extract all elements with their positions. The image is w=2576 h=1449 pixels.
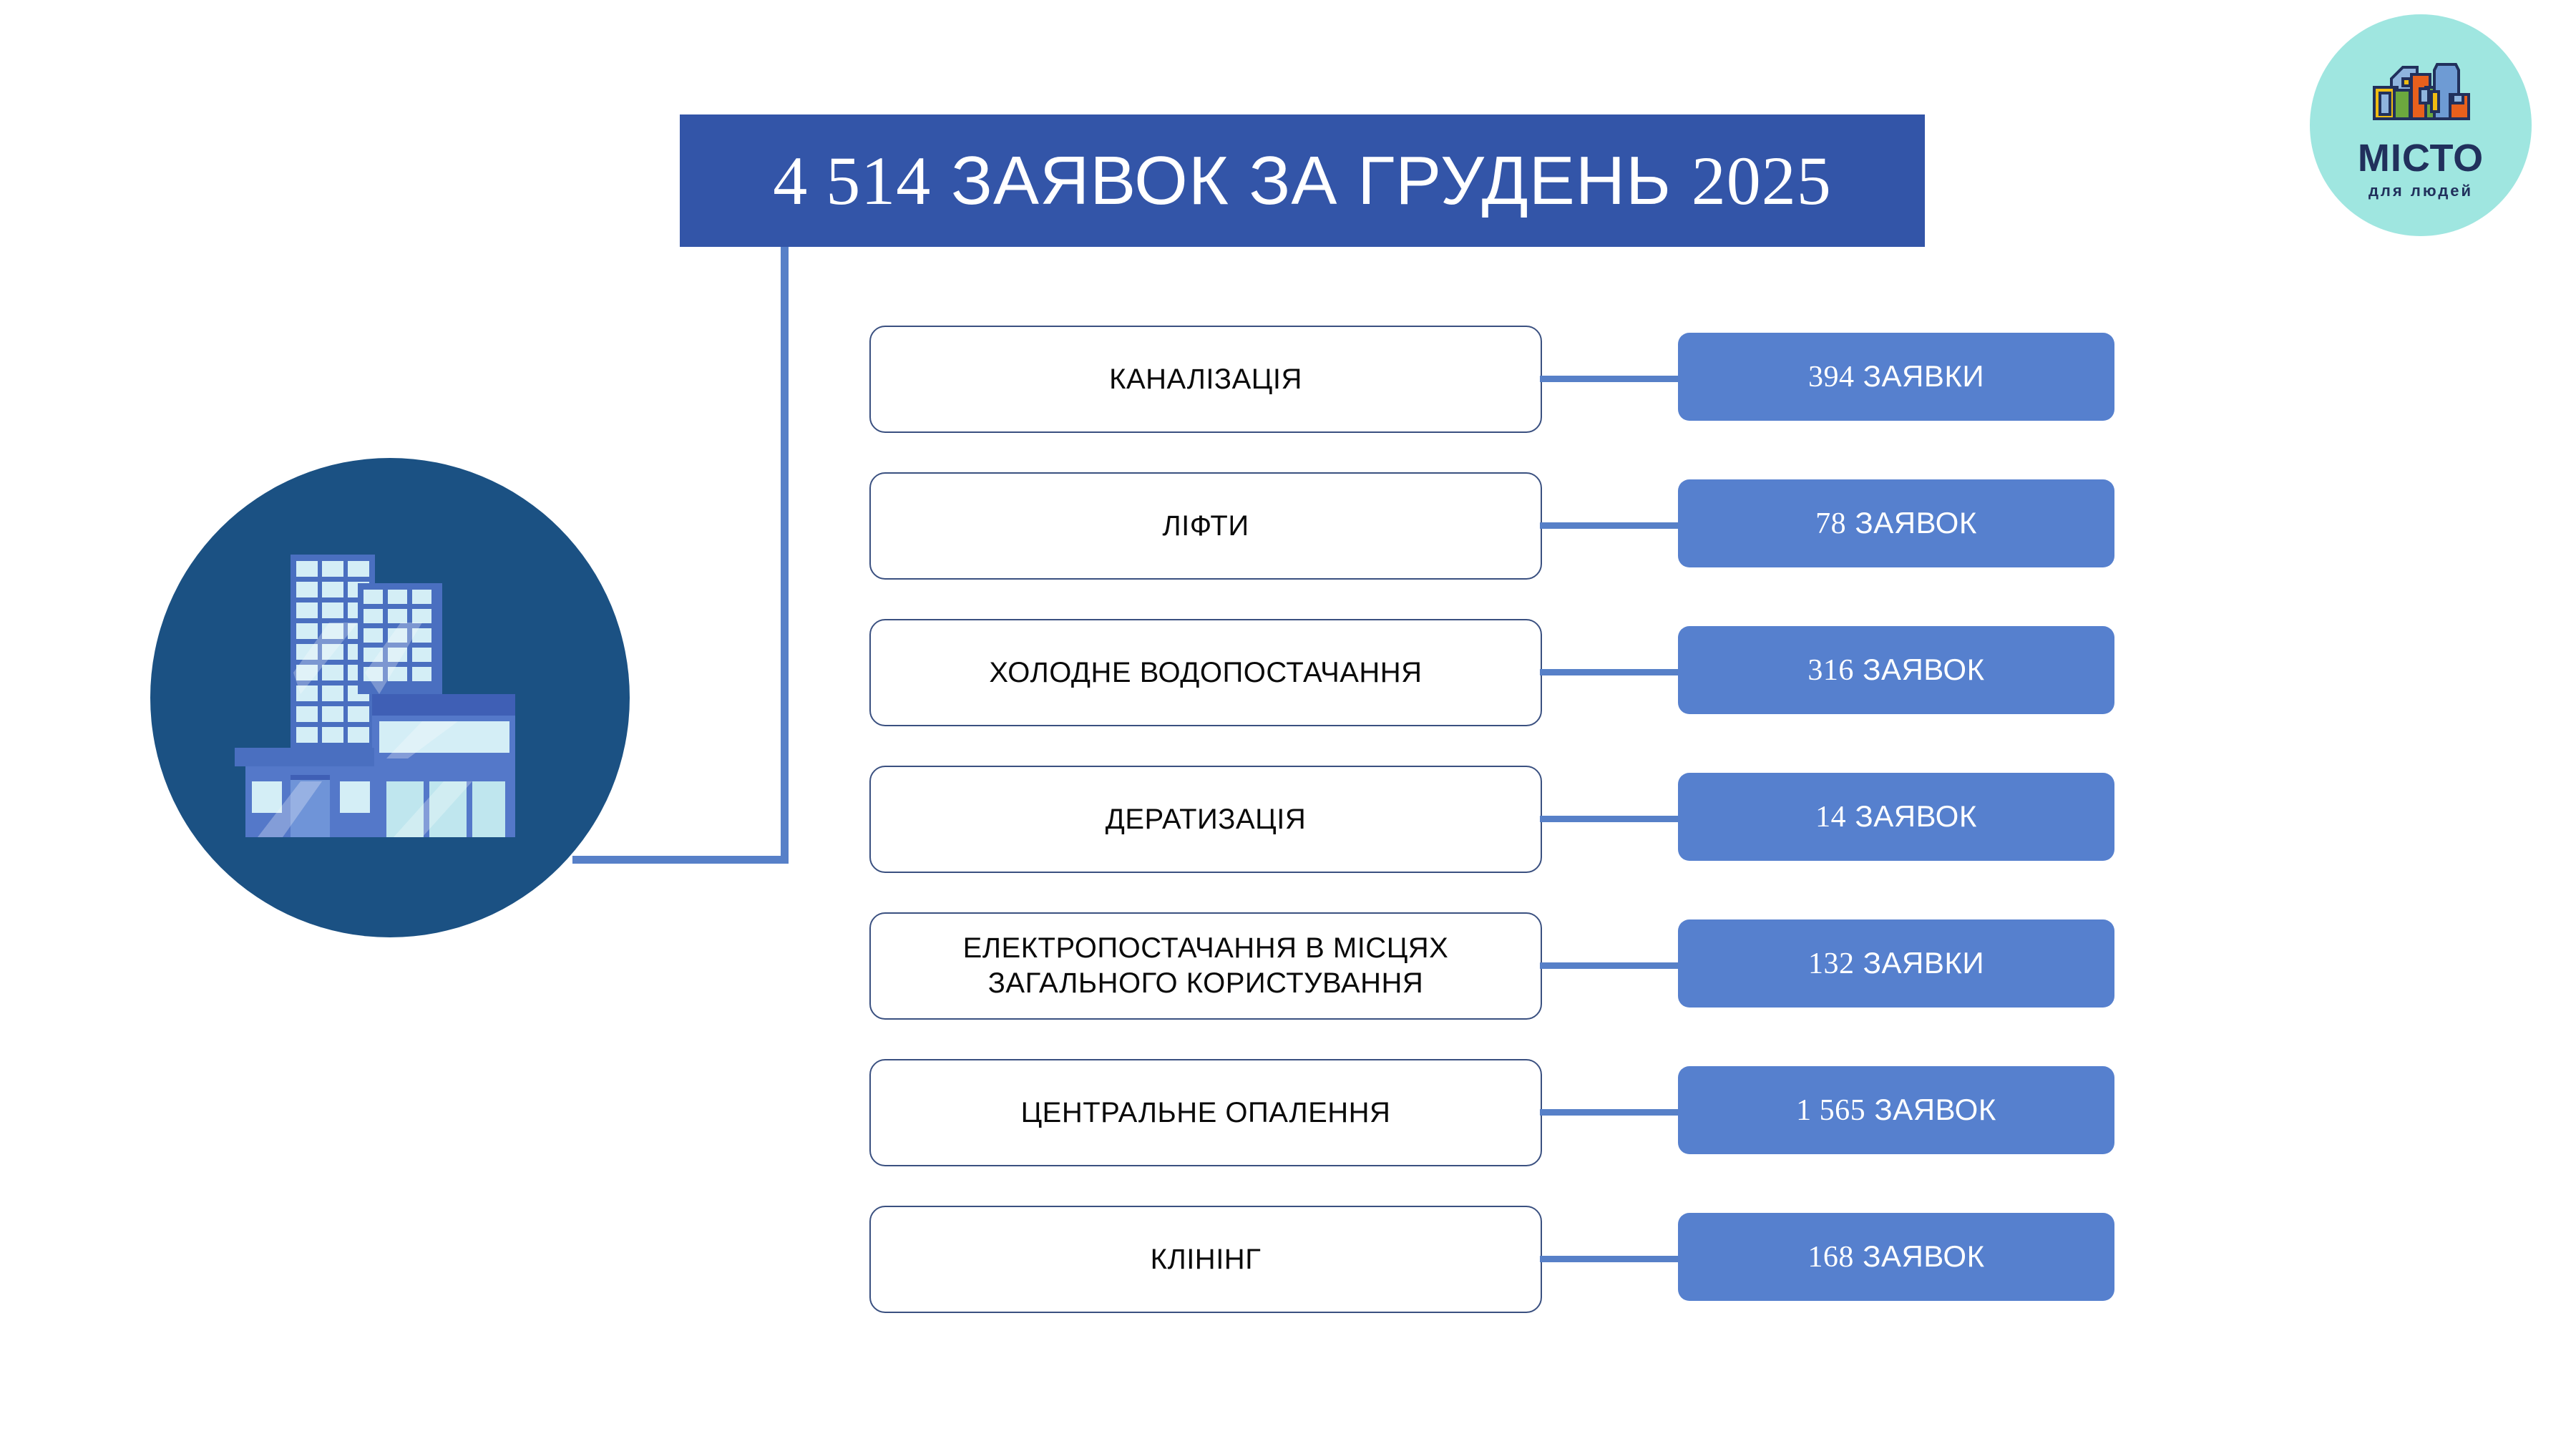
category-label: ЛІФТИ xyxy=(1149,509,1262,544)
category-box[interactable]: ХОЛОДНЕ ВОДОПОСТАЧАННЯ xyxy=(869,619,1542,726)
value-number: 78 xyxy=(1815,507,1846,540)
apartment-building-icon xyxy=(150,458,630,937)
value-label: 1 565 ЗАЯВОК xyxy=(1796,1093,1996,1128)
row-connector xyxy=(1540,1109,1680,1116)
category-box[interactable]: ЦЕНТРАЛЬНЕ ОПАЛЕННЯ xyxy=(869,1059,1542,1166)
category-line-1: ДЕРАТИЗАЦІЯ xyxy=(1106,804,1306,835)
title-connector-vertical xyxy=(781,247,789,864)
title-period-text: ЗАЯВОК ЗА ГРУДЕНЬ xyxy=(951,142,1672,219)
value-box[interactable]: 168 ЗАЯВОК xyxy=(1678,1213,2114,1301)
value-unit: ЗАЯВОК xyxy=(1863,653,1984,686)
category-line-1: ХОЛОДНЕ ВОДОПОСТАЧАННЯ xyxy=(989,657,1422,688)
value-number: 394 xyxy=(1808,361,1855,394)
value-label: 14 ЗАЯВОК xyxy=(1815,799,1977,834)
value-unit: ЗАЯВОК xyxy=(1855,799,1976,833)
value-box[interactable]: 14 ЗАЯВОК xyxy=(1678,773,2114,861)
value-number: 1 565 xyxy=(1796,1094,1865,1127)
value-unit: ЗАЯВОК xyxy=(1863,1239,1984,1273)
row-connector xyxy=(1540,522,1680,529)
logo-wordmark: МІСТО xyxy=(2358,139,2484,177)
category-box[interactable]: ДЕРАТИЗАЦІЯ xyxy=(869,766,1542,873)
value-unit: ЗАЯВКИ xyxy=(1863,359,1984,393)
value-label: 132 ЗАЯВКИ xyxy=(1808,946,1984,981)
row-connector xyxy=(1540,669,1680,675)
page-title: 4 514 ЗАЯВОК ЗА ГРУДЕНЬ 2025 xyxy=(773,141,1831,220)
value-label: 168 ЗАЯВОК xyxy=(1807,1239,1984,1274)
category-box[interactable]: КАНАЛІЗАЦІЯ xyxy=(869,326,1542,433)
value-label: 394 ЗАЯВКИ xyxy=(1808,359,1984,394)
category-line-1: КАНАЛІЗАЦІЯ xyxy=(1109,364,1302,395)
value-unit: ЗАЯВОК xyxy=(1874,1093,1996,1126)
category-box[interactable]: КЛІНІНГ xyxy=(869,1206,1542,1313)
title-connector-horizontal xyxy=(572,856,787,864)
category-line-2: ЗАГАЛЬНОГО КОРИСТУВАННЯ xyxy=(988,967,1424,999)
value-label: 316 ЗАЯВОК xyxy=(1807,653,1984,688)
value-box[interactable]: 1 565 ЗАЯВОК xyxy=(1678,1066,2114,1154)
category-line-1: ЕЛЕКТРОПОСТАЧАННЯ В МІСЦЯХ xyxy=(963,932,1449,964)
city-skyline-icon xyxy=(2360,50,2482,136)
row-connector xyxy=(1540,962,1680,969)
misto-logo-badge: МІСТО для людей xyxy=(2310,14,2532,236)
title-year: 2025 xyxy=(1692,142,1832,219)
row-connector xyxy=(1540,816,1680,822)
value-number: 132 xyxy=(1808,947,1855,980)
value-unit: ЗАЯВОК xyxy=(1855,506,1976,540)
category-label: ЦЕНТРАЛЬНЕ ОПАЛЕННЯ xyxy=(1008,1096,1404,1131)
category-label: КАНАЛІЗАЦІЯ xyxy=(1096,362,1315,397)
building-illustration-circle xyxy=(150,458,630,937)
row-connector xyxy=(1540,1256,1680,1262)
value-box[interactable]: 394 ЗАЯВКИ xyxy=(1678,333,2114,421)
logo-tagline: для людей xyxy=(2368,182,2473,200)
title-banner: 4 514 ЗАЯВОК ЗА ГРУДЕНЬ 2025 xyxy=(680,114,1925,247)
category-label: ДЕРАТИЗАЦІЯ xyxy=(1093,802,1319,837)
category-label: ЕЛЕКТРОПОСТАЧАННЯ В МІСЦЯХ ЗАГАЛЬНОГО КО… xyxy=(950,931,1462,1001)
value-number: 168 xyxy=(1807,1241,1854,1274)
value-box[interactable]: 78 ЗАЯВОК xyxy=(1678,479,2114,567)
value-label: 78 ЗАЯВОК xyxy=(1815,506,1977,541)
value-number: 316 xyxy=(1807,654,1854,687)
category-box[interactable]: ЛІФТИ xyxy=(869,472,1542,580)
value-unit: ЗАЯВКИ xyxy=(1863,946,1984,980)
category-line-1: КЛІНІНГ xyxy=(1151,1244,1262,1275)
title-total-number: 4 514 xyxy=(773,142,931,219)
category-line-1: ЛІФТИ xyxy=(1162,510,1249,542)
category-label: ХОЛОДНЕ ВОДОПОСТАЧАННЯ xyxy=(976,655,1435,691)
value-number: 14 xyxy=(1815,801,1846,834)
row-connector xyxy=(1540,376,1680,382)
category-line-1: ЦЕНТРАЛЬНЕ ОПАЛЕННЯ xyxy=(1021,1097,1391,1128)
category-label: КЛІНІНГ xyxy=(1138,1242,1274,1277)
value-box[interactable]: 132 ЗАЯВКИ xyxy=(1678,919,2114,1008)
category-box[interactable]: ЕЛЕКТРОПОСТАЧАННЯ В МІСЦЯХ ЗАГАЛЬНОГО КО… xyxy=(869,912,1542,1020)
value-box[interactable]: 316 ЗАЯВОК xyxy=(1678,626,2114,714)
